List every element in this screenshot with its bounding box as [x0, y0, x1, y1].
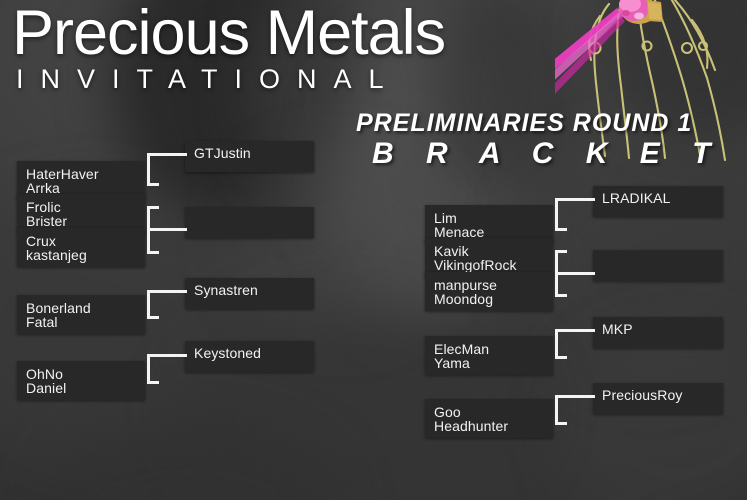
winner-preciousroy[interactable]: PreciousRoy — [593, 383, 723, 414]
player-name: kastanjeg — [26, 248, 87, 263]
winner-mkp[interactable]: MKP — [593, 317, 723, 348]
match-manpurse-moondog[interactable]: manpurse Moondog — [425, 272, 553, 311]
player-name: Daniel — [26, 381, 66, 396]
player-name: Yama — [434, 356, 470, 371]
winner-empty-2[interactable] — [593, 250, 723, 281]
bracket-label: B R A C K E T — [372, 138, 722, 170]
winner-gtjustin[interactable]: GTJustin — [185, 141, 314, 172]
winner-name: GTJustin — [194, 146, 251, 161]
match-elecman-yama[interactable]: ElecMan Yama — [425, 336, 553, 375]
winner-synastren[interactable]: Synastren — [185, 278, 314, 309]
spider-body — [619, 0, 663, 24]
round-label: PRELIMINARIES ROUND 1 — [356, 110, 692, 136]
player-name: VikingofRock — [434, 258, 517, 273]
player-name: Brister — [26, 214, 67, 229]
match-bonerland-fatal[interactable]: Bonerland Fatal — [17, 295, 145, 334]
winner-name: Synastren — [194, 283, 258, 298]
match-goo-headhunter[interactable]: Goo Headhunter — [425, 399, 553, 438]
player-name: Moondog — [434, 292, 493, 307]
match-crux-kastanjeg[interactable]: Crux kastanjeg — [17, 228, 145, 267]
page-title: Precious Metals — [12, 2, 445, 64]
page-subtitle: INVITATIONAL — [16, 64, 401, 94]
winner-name: PreciousRoy — [602, 388, 682, 403]
winner-name: Keystoned — [194, 346, 261, 361]
player-name: Fatal — [26, 315, 58, 330]
match-ohno-daniel[interactable]: OhNo Daniel — [17, 361, 145, 400]
winner-empty-1[interactable] — [185, 207, 314, 238]
bracket-poster: Precious Metals INVITATIONAL PRELIMINARI… — [0, 0, 747, 500]
winner-name: MKP — [602, 322, 633, 337]
winner-lradikal[interactable]: LRADIKAL — [593, 186, 723, 217]
winner-name: LRADIKAL — [602, 191, 671, 206]
player-name: Headhunter — [434, 419, 508, 434]
winner-keystoned[interactable]: Keystoned — [185, 341, 314, 372]
